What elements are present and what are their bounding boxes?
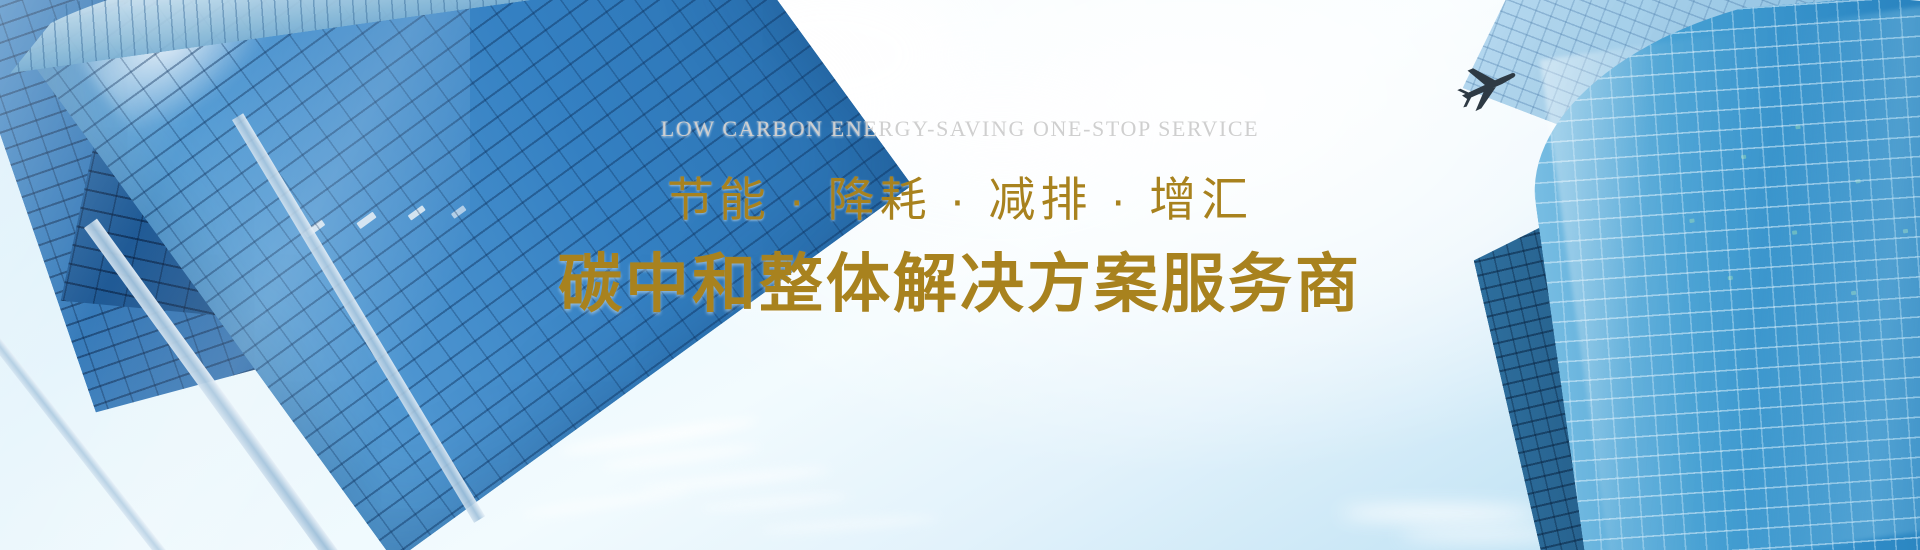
hero-banner: LOW CARBON ENERGY-SAVING ONE-STOP SERVIC…: [0, 0, 1920, 550]
airplane-icon: [1452, 58, 1524, 112]
